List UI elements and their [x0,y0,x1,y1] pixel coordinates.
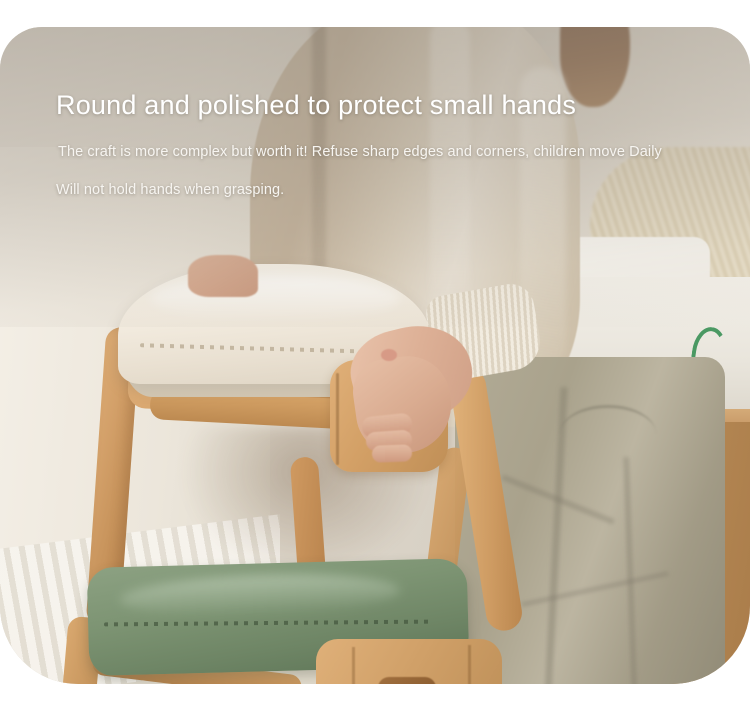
base-groove [352,647,355,684]
handle-groove [336,373,339,465]
base-handle-slot [378,677,436,684]
text-scrim [0,27,750,327]
product-feature-banner: Round and polished to protect small hand… [0,0,750,713]
base-groove [468,645,471,684]
thumb-nail [381,349,397,361]
product-photo [0,27,750,684]
trouser-pocket [560,405,656,462]
finger [372,444,413,462]
